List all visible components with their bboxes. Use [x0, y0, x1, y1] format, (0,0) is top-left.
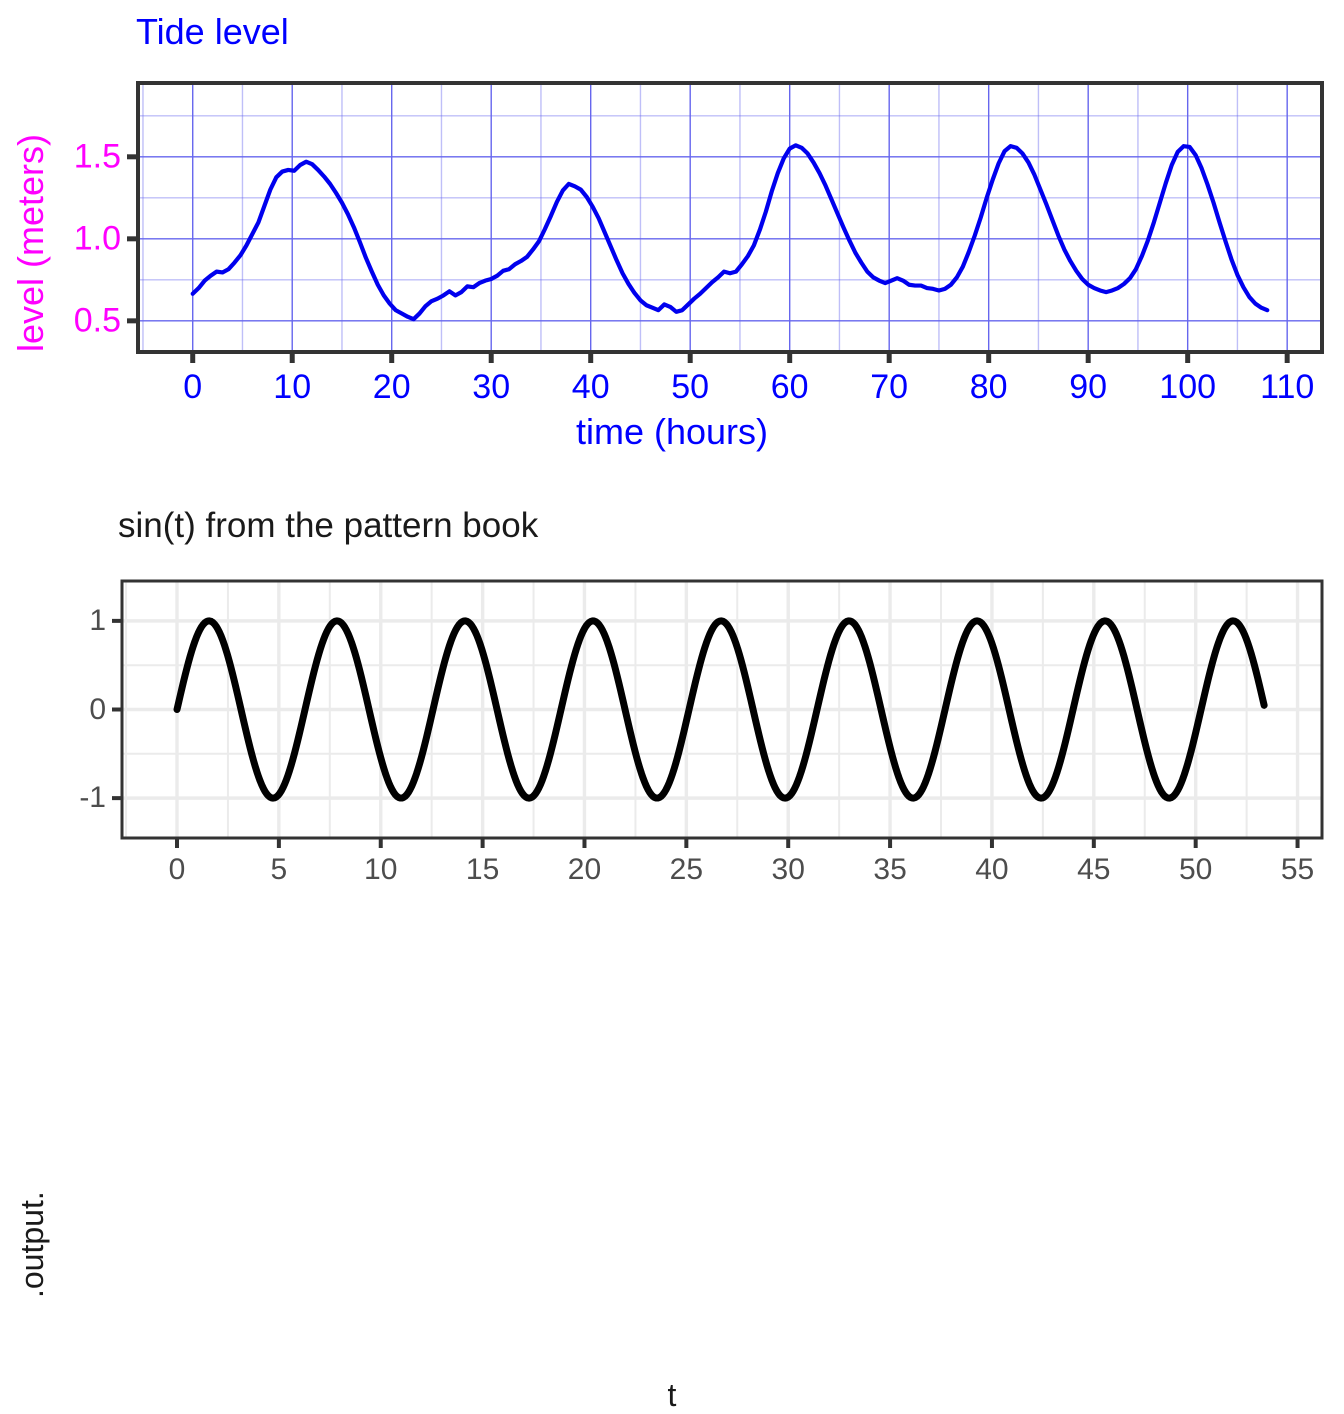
tide-x-tick-label: 110: [1260, 368, 1314, 407]
sine-y-axis-title: .output.: [14, 1191, 51, 1298]
sine-x-tick-label: 0: [169, 853, 186, 887]
tide-x-tick-label: 0: [183, 368, 202, 407]
sine-plot-svg: [0, 480, 1344, 960]
tide-x-tick-label: 40: [572, 368, 610, 407]
sine-x-tick-label: 40: [975, 853, 1008, 887]
tide-x-tick-label: 50: [671, 368, 709, 407]
sine-x-tick-label: 5: [271, 853, 288, 887]
sine-y-tick-label: 0: [0, 693, 106, 727]
sine-x-tick-label: 35: [873, 853, 906, 887]
sine-x-tick-label: 25: [670, 853, 703, 887]
tide-plot-svg: [0, 0, 1344, 480]
tide-x-tick-label: 60: [771, 368, 809, 407]
sine-x-tick-label: 30: [772, 853, 805, 887]
sine-chart: sin(t) from the pattern book .output. t …: [0, 480, 1344, 960]
tide-x-tick-label: 80: [970, 368, 1008, 407]
sine-x-tick-label: 55: [1281, 853, 1314, 887]
sine-y-tick-label: 1: [0, 604, 106, 638]
tide-x-tick-label: 100: [1159, 368, 1216, 407]
tide-y-tick-label: 0.5: [0, 301, 121, 340]
sine-x-tick-label: 15: [466, 853, 499, 887]
sine-x-tick-label: 50: [1179, 853, 1212, 887]
figure-canvas: Tide level level (meters) time (hours) 0…: [0, 0, 1344, 960]
tide-x-tick-label: 90: [1069, 368, 1107, 407]
tide-x-tick-label: 20: [373, 368, 411, 407]
tide-y-tick-label: 1.0: [0, 219, 121, 258]
sine-x-tick-label: 10: [364, 853, 397, 887]
sine-x-tick-label: 45: [1077, 853, 1110, 887]
tide-level-chart: Tide level level (meters) time (hours) 0…: [0, 0, 1344, 480]
sine-y-tick-label: -1: [0, 781, 106, 815]
tide-x-tick-label: 70: [870, 368, 908, 407]
tide-y-tick-label: 1.5: [0, 137, 121, 176]
sine-plot-area: [0, 480, 1344, 960]
tide-x-tick-label: 10: [273, 368, 311, 407]
tide-x-tick-label: 30: [472, 368, 510, 407]
tide-plot-area: [0, 0, 1344, 480]
sine-x-tick-label: 20: [568, 853, 601, 887]
sine-x-axis-title: t: [0, 1377, 1344, 1414]
